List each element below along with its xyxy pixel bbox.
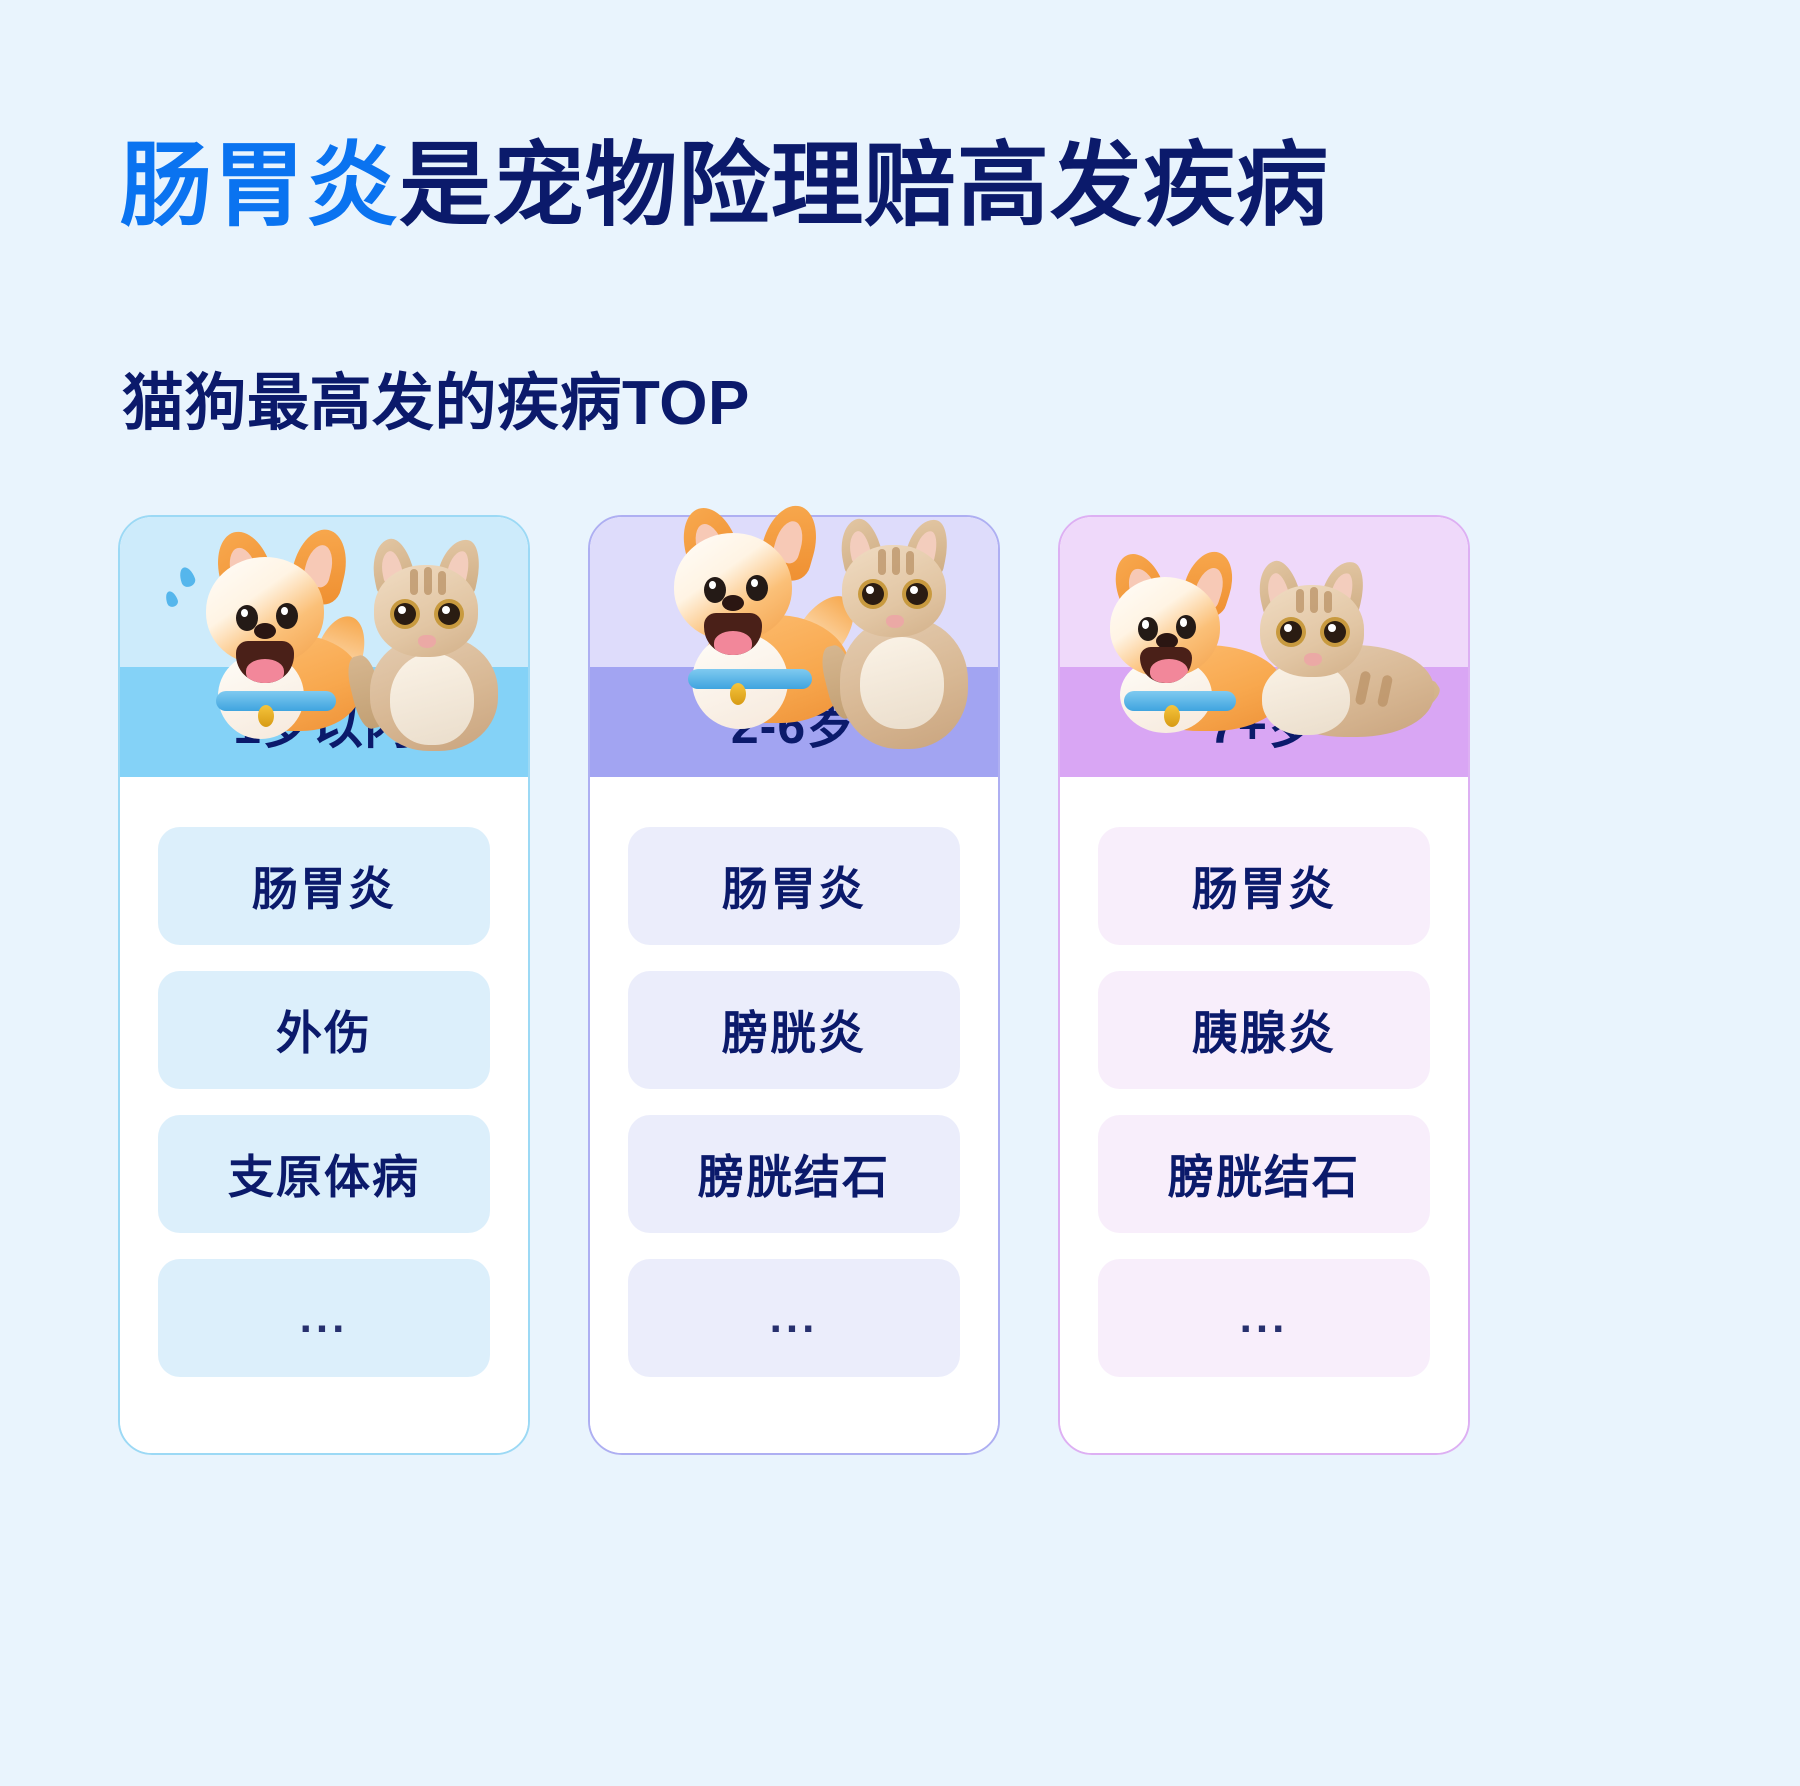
disease-pill[interactable]: 支原体病 [158,1115,490,1233]
disease-pill-more[interactable]: ... [1098,1259,1430,1377]
title-highlight: 肠胃炎 [120,135,399,237]
disease-pill[interactable]: 肠胃炎 [1098,827,1430,945]
disease-pill[interactable]: 膀胱炎 [628,971,960,1089]
card-surface: 2-6岁 肠胃炎 膀胱炎 膀胱结石 ... [588,515,1000,1455]
age-group-card[interactable]: 2-6岁 肠胃炎 膀胱炎 膀胱结石 ... [588,515,1000,1455]
card-top-area [120,517,528,667]
disease-pill[interactable]: 肠胃炎 [158,827,490,945]
disease-pill-more[interactable]: ... [628,1259,960,1377]
age-group-card[interactable]: 1岁以内 肠胃炎 外伤 支原体病 ... [118,515,530,1455]
age-group-card[interactable]: 7+岁 肠胃炎 胰腺炎 膀胱结石 ... [1058,515,1470,1455]
card-header-label: 1岁以内 [120,667,528,777]
card-surface: 7+岁 肠胃炎 胰腺炎 膀胱结石 ... [1058,515,1470,1455]
card-header-label: 2-6岁 [590,667,998,777]
card-item-list: 肠胃炎 胰腺炎 膀胱结石 ... [1060,777,1468,1453]
card-top-area [1060,517,1468,667]
title-rest: 是宠物险理赔高发疾病 [399,135,1329,237]
disease-pill-more[interactable]: ... [158,1259,490,1377]
disease-pill[interactable]: 胰腺炎 [1098,971,1430,1089]
card-item-list: 肠胃炎 膀胱炎 膀胱结石 ... [590,777,998,1453]
page-title: 肠胃炎是宠物险理赔高发疾病 [120,138,1329,235]
disease-pill[interactable]: 肠胃炎 [628,827,960,945]
card-header-label: 7+岁 [1060,667,1468,777]
disease-pill[interactable]: 膀胱结石 [1098,1115,1430,1233]
disease-pill[interactable]: 外伤 [158,971,490,1089]
card-surface: 1岁以内 肠胃炎 外伤 支原体病 ... [118,515,530,1455]
page-subtitle: 猫狗最高发的疾病TOP [122,352,750,442]
age-group-card-list: 1岁以内 肠胃炎 外伤 支原体病 ... [118,515,1470,1455]
infographic-page: 肠胃炎是宠物险理赔高发疾病 猫狗最高发的疾病TOP 1岁以内 肠胃炎 外伤 支原… [0,0,1800,1786]
card-item-list: 肠胃炎 外伤 支原体病 ... [120,777,528,1453]
disease-pill[interactable]: 膀胱结石 [628,1115,960,1233]
card-top-area [590,517,998,667]
